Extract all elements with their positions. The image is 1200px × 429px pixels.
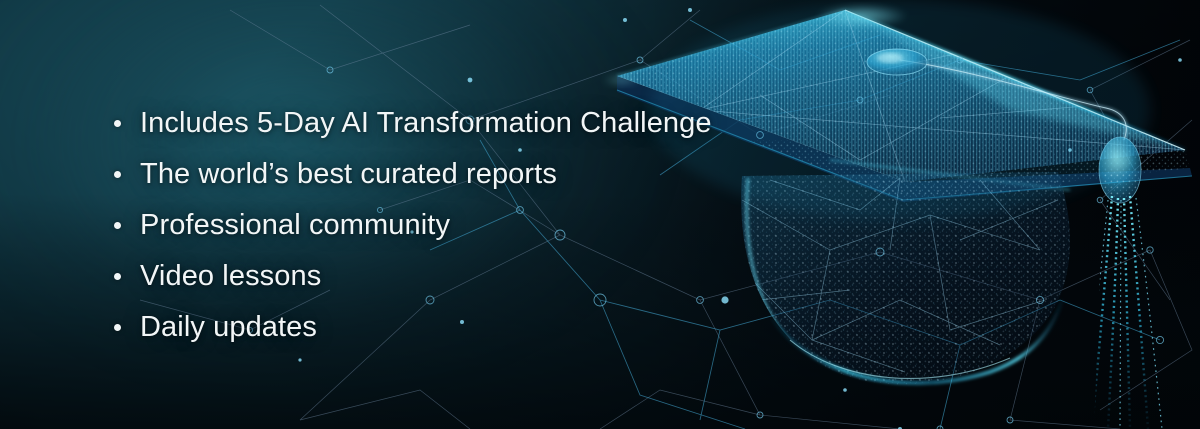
feature-label: Video lessons [140,260,321,292]
feature-label: The world’s best curated reports [140,158,557,190]
bullet-icon [114,171,121,178]
feature-label: Professional community [140,209,450,241]
feature-list: Includes 5-Day AI Transformation Challen… [112,108,712,342]
list-item: Daily updates [112,312,712,342]
feature-label: Includes 5-Day AI Transformation Challen… [140,107,712,139]
bullet-icon [114,273,121,280]
list-item: The world’s best curated reports [112,159,712,189]
list-item: Video lessons [112,261,712,291]
list-item: Includes 5-Day AI Transformation Challen… [112,108,712,138]
feature-label: Daily updates [140,311,317,343]
bullet-icon [114,120,121,127]
bullet-icon [114,222,121,229]
bullet-icon [114,324,121,331]
list-item: Professional community [112,210,712,240]
promo-banner: Includes 5-Day AI Transformation Challen… [0,0,1200,429]
